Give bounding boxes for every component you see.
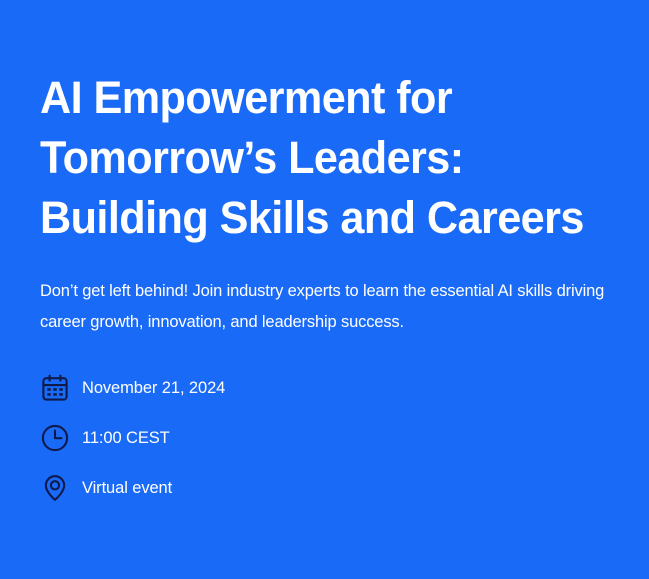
calendar-icon bbox=[41, 374, 69, 402]
hero-subtitle: Don’t get left behind! Join industry exp… bbox=[40, 248, 605, 338]
event-hero-banner: AI Empowerment for Tomorrow’s Leaders: B… bbox=[0, 0, 649, 579]
hero-content: AI Empowerment for Tomorrow’s Leaders: B… bbox=[40, 0, 610, 513]
event-location-row: Virtual event bbox=[40, 463, 610, 513]
event-date-row: November 21, 2024 bbox=[40, 363, 610, 413]
event-location-label: Virtual event bbox=[82, 478, 172, 498]
location-pin-icon bbox=[41, 474, 69, 502]
event-date-label: November 21, 2024 bbox=[82, 378, 225, 398]
event-time-label: 11:00 CEST bbox=[82, 428, 170, 448]
event-time-row: 11:00 CEST bbox=[40, 413, 610, 463]
clock-icon bbox=[41, 424, 69, 452]
page-title: AI Empowerment for Tomorrow’s Leaders: B… bbox=[40, 0, 587, 248]
event-details-list: November 21, 2024 11:00 CEST bbox=[40, 338, 610, 513]
